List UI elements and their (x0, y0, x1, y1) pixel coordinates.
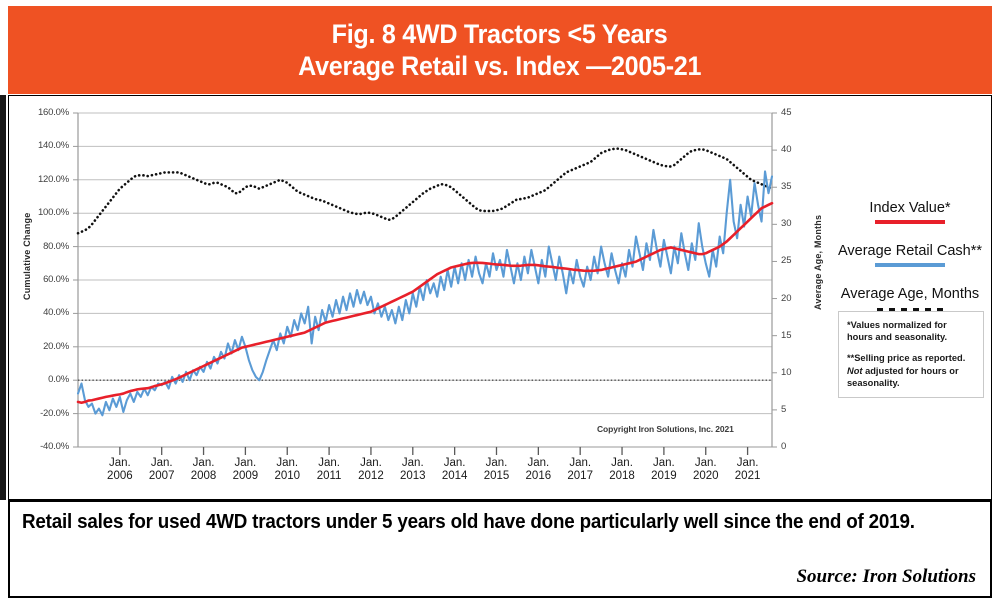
x-axis-tick-label: Jan.2009 (223, 457, 267, 482)
x-axis-tick-label: Jan.2021 (726, 457, 770, 482)
title-banner: Fig. 8 4WD Tractors <5 Years Average Ret… (8, 6, 992, 94)
y2-axis-tick-label: 25 (781, 255, 792, 266)
source-attribution: Source: Iron Solutions (796, 566, 976, 588)
legend-note-2-emphasis: Not (847, 366, 863, 376)
legend-item-average-age: Average Age, Months (828, 286, 992, 314)
y-axis-tick-label: 140.0% (8, 140, 69, 151)
legend-swatch-average-retail-cash (875, 263, 945, 267)
y-axis-tick-label: 20.0% (8, 341, 69, 352)
x-axis-tick-label: Jan.2018 (600, 457, 644, 482)
y2-axis-tick-label: 5 (781, 404, 786, 415)
x-axis-tick-label: Jan.2008 (182, 457, 226, 482)
legend-note-1: *Values normalized for hours and seasona… (847, 319, 975, 343)
legend-note-2-part-a: **Selling price as reported. (847, 353, 965, 363)
y2-axis-tick-label: 0 (781, 441, 786, 452)
legend-label-index-value: Index Value* (828, 200, 992, 216)
y-axis-tick-label: -40.0% (8, 441, 69, 452)
y2-axis-tick-label: 20 (781, 293, 792, 304)
y-axis-tick-label: 120.0% (8, 174, 69, 185)
y2-axis-tick-label: 35 (781, 181, 792, 192)
legend-note-2: **Selling price as reported. Not adjuste… (847, 352, 975, 389)
legend-item-average-retail-cash: Average Retail Cash** (828, 243, 992, 267)
y2-axis-tick-label: 40 (781, 144, 792, 155)
x-axis-tick-label: Jan.2013 (391, 457, 435, 482)
x-axis-tick-label: Jan.2019 (642, 457, 686, 482)
legend-label-average-age: Average Age, Months (828, 286, 992, 302)
left-accent-bar (0, 95, 6, 500)
legend-note-2-part-b: adjusted for hours or seasonality. (847, 366, 959, 388)
x-axis-tick-label: Jan.2011 (307, 457, 351, 482)
caption-box: Retail sales for used 4WD tractors under… (8, 500, 992, 598)
x-axis-tick-label: Jan.2012 (349, 457, 393, 482)
y2-axis-tick-label: 15 (781, 330, 792, 341)
y-axis-tick-label: 0.0% (8, 374, 69, 385)
figure-page: Fig. 8 4WD Tractors <5 Years Average Ret… (0, 0, 1000, 605)
title-line-1: Fig. 8 4WD Tractors <5 Years (332, 18, 668, 50)
caption-text: Retail sales for used 4WD tractors under… (22, 510, 921, 535)
y2-axis-tick-label: 30 (781, 218, 792, 229)
legend-swatch-index-value (875, 220, 945, 224)
y-axis-tick-label: -20.0% (8, 408, 69, 419)
y2-axis-tick-label: 10 (781, 367, 792, 378)
y-axis-tick-label: 160.0% (8, 107, 69, 118)
y-axis-tick-label: 80.0% (8, 241, 69, 252)
chart-area: Cumulative Change Average Age, Months Co… (8, 95, 828, 500)
x-axis-tick-label: Jan.2014 (433, 457, 477, 482)
y-axis-tick-label: 60.0% (8, 274, 69, 285)
x-axis-tick-label: Jan.2015 (474, 457, 518, 482)
legend-notes-box: *Values normalized for hours and seasona… (838, 311, 984, 398)
x-axis-tick-label: Jan.2010 (265, 457, 309, 482)
y-axis-tick-label: 40.0% (8, 307, 69, 318)
y-axis-tick-label: 100.0% (8, 207, 69, 218)
chart-copyright: Copyright Iron Solutions, Inc. 2021 (597, 424, 734, 434)
legend-item-index-value: Index Value* (828, 200, 992, 224)
x-axis-tick-label: Jan.2016 (516, 457, 560, 482)
chart-legend: Index Value* Average Retail Cash** Avera… (828, 95, 992, 500)
legend-label-average-retail-cash: Average Retail Cash** (828, 243, 992, 259)
title-line-2: Average Retail vs. Index —2005-21 (298, 50, 701, 82)
x-axis-tick-label: Jan.2006 (98, 457, 142, 482)
x-axis-tick-label: Jan.2020 (684, 457, 728, 482)
x-axis-tick-label: Jan.2017 (558, 457, 602, 482)
x-axis-tick-label: Jan.2007 (140, 457, 184, 482)
y2-axis-tick-label: 45 (781, 107, 792, 118)
